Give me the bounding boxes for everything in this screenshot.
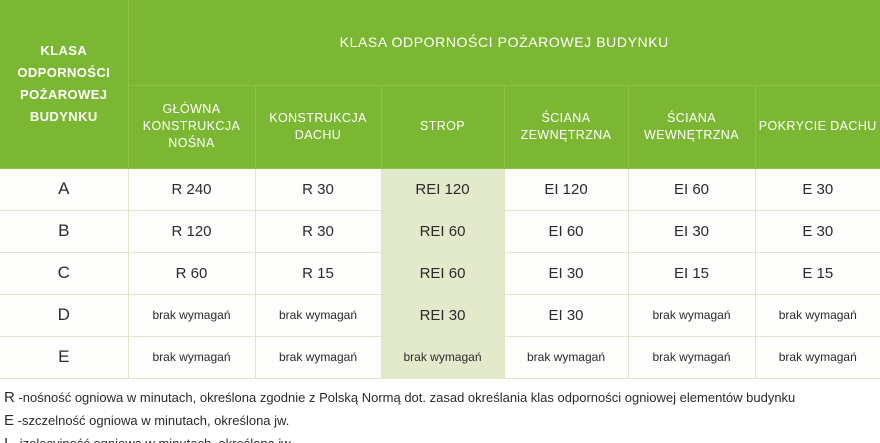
table-footnotes: R -nośność ogniowa w minutach, określona… — [0, 379, 880, 443]
cell-sciana-wewnetrzna: EI 60 — [628, 168, 755, 210]
cell-glowna-konstrukcja-nosna: brak wymagań — [128, 294, 255, 336]
table-body: A R 240 R 30 REI 120 EI 120 EI 60 E 30 B… — [0, 168, 880, 378]
cell-pokrycie-dachu: E 30 — [755, 210, 880, 252]
cell-sciana-zewnetrzna: EI 60 — [504, 210, 628, 252]
cell-pokrycie-dachu: E 15 — [755, 252, 880, 294]
table-row: C R 60 R 15 REI 60 EI 30 EI 15 E 15 — [0, 252, 880, 294]
cell-sciana-wewnetrzna: brak wymagań — [628, 294, 755, 336]
cell-strop: brak wymagań — [381, 336, 504, 378]
cell-sciana-wewnetrzna: EI 30 — [628, 210, 755, 252]
column-header-glowna-konstrukcja-nosna: GŁÓWNA KONSTRUKCJA NOŚNA — [128, 85, 255, 168]
header-row-top: KLASA ODPORNOŚCI POŻAROWEJ BUDYNKU KLASA… — [0, 0, 880, 85]
cell-konstrukcja-dachu: brak wymagań — [255, 294, 381, 336]
footnote-key-r: R — [4, 389, 15, 406]
footnote-text-e: -szczelność ogniowa w minutach, określon… — [18, 413, 290, 428]
table-row: E brak wymagań brak wymagań brak wymagań… — [0, 336, 880, 378]
row-class-label: D — [0, 294, 128, 336]
column-header-pokrycie-dachu: POKRYCIE DACHU — [755, 85, 880, 168]
row-class-label: A — [0, 168, 128, 210]
row-class-label: B — [0, 210, 128, 252]
footnote-r: R -nośność ogniowa w minutach, określona… — [4, 386, 876, 409]
table-head: KLASA ODPORNOŚCI POŻAROWEJ BUDYNKU KLASA… — [0, 0, 880, 168]
cell-pokrycie-dachu: E 30 — [755, 168, 880, 210]
table-row: D brak wymagań brak wymagań REI 30 EI 30… — [0, 294, 880, 336]
cell-sciana-zewnetrzna: EI 120 — [504, 168, 628, 210]
cell-sciana-zewnetrzna: EI 30 — [504, 294, 628, 336]
table-row: A R 240 R 30 REI 120 EI 120 EI 60 E 30 — [0, 168, 880, 210]
cell-sciana-zewnetrzna: EI 30 — [504, 252, 628, 294]
cell-glowna-konstrukcja-nosna: R 60 — [128, 252, 255, 294]
cell-sciana-wewnetrzna: brak wymagań — [628, 336, 755, 378]
fire-resistance-class-table: KLASA ODPORNOŚCI POŻAROWEJ BUDYNKU KLASA… — [0, 0, 880, 379]
cell-sciana-zewnetrzna: brak wymagań — [504, 336, 628, 378]
footnote-text-r: -nośność ogniowa w minutach, określona z… — [18, 390, 795, 405]
column-header-sciana-zewnetrzna: ŚCIANA ZEWNĘTRZNA — [504, 85, 628, 168]
footnote-key-e: E — [4, 412, 14, 429]
table-row: B R 120 R 30 REI 60 EI 60 EI 30 E 30 — [0, 210, 880, 252]
cell-strop: REI 60 — [381, 252, 504, 294]
cell-pokrycie-dachu: brak wymagań — [755, 336, 880, 378]
row-class-label: E — [0, 336, 128, 378]
cell-pokrycie-dachu: brak wymagań — [755, 294, 880, 336]
cell-konstrukcja-dachu: R 30 — [255, 210, 381, 252]
cell-konstrukcja-dachu: R 15 — [255, 252, 381, 294]
column-header-konstrukcja-dachu: KONSTRUKCJA DACHU — [255, 85, 381, 168]
cell-glowna-konstrukcja-nosna: brak wymagań — [128, 336, 255, 378]
cell-glowna-konstrukcja-nosna: R 240 — [128, 168, 255, 210]
cell-glowna-konstrukcja-nosna: R 120 — [128, 210, 255, 252]
footnote-e: E -szczelność ogniowa w minutach, określ… — [4, 409, 876, 432]
footnote-i: I - izolacyjność ogniowa w minutach, okr… — [4, 432, 876, 443]
fire-resistance-table-page: KLASA ODPORNOŚCI POŻAROWEJ BUDYNKU KLASA… — [0, 0, 880, 443]
cell-sciana-wewnetrzna: EI 15 — [628, 252, 755, 294]
header-row-columns: GŁÓWNA KONSTRUKCJA NOŚNA KONSTRUKCJA DAC… — [0, 85, 880, 168]
cell-strop: REI 120 — [381, 168, 504, 210]
footnote-key-i: I — [4, 435, 8, 443]
column-header-strop: STROP — [381, 85, 504, 168]
column-header-sciana-wewnetrzna: ŚCIANA WEWNĘTRZNA — [628, 85, 755, 168]
top-header-klasa-odpornosci-pozarowej-budynku: KLASA ODPORNOŚCI POŻAROWEJ BUDYNKU — [128, 0, 880, 85]
row-class-label: C — [0, 252, 128, 294]
cell-strop: REI 60 — [381, 210, 504, 252]
cell-konstrukcja-dachu: brak wymagań — [255, 336, 381, 378]
cell-konstrukcja-dachu: R 30 — [255, 168, 381, 210]
footnote-text-i: - izolacyjność ogniowa w minutach, okreś… — [12, 436, 294, 443]
cell-strop: REI 30 — [381, 294, 504, 336]
stub-header-klasa-odpornosci-pozarowej-budynku: KLASA ODPORNOŚCI POŻAROWEJ BUDYNKU — [0, 0, 128, 168]
